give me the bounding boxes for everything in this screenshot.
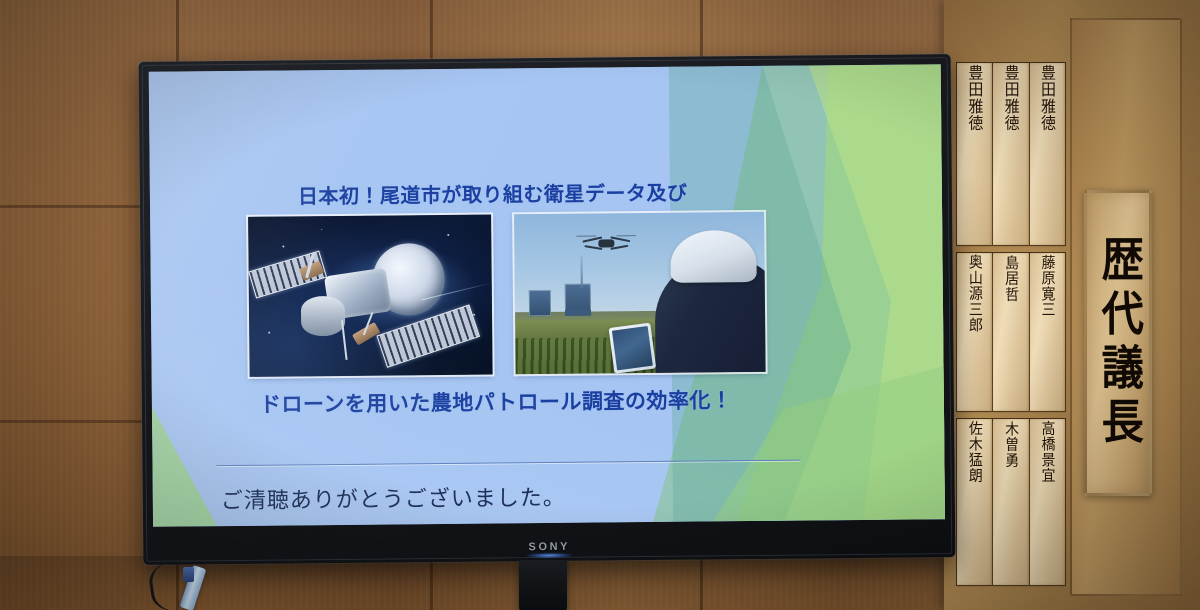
- tablet-device: [609, 323, 657, 374]
- slide-subtitle: ドローンを用いた農地パトロール調査の効率化！: [260, 384, 733, 419]
- solar-panel-right: [376, 304, 480, 367]
- drone-field-photo: [514, 212, 766, 374]
- plaque-name: 島居哲: [1004, 255, 1018, 302]
- tv-screen: 日本初！尾道市が取り組む衛星データ及び: [149, 64, 945, 527]
- plaque-name: 豊田雅徳: [967, 64, 982, 131]
- plaque-name: 豊田雅徳: [1040, 64, 1055, 131]
- star: [269, 332, 271, 334]
- name-plaque: 島居哲: [993, 253, 1028, 411]
- plaque-shelf-top: 豊田雅徳 豊田雅徳 豊田雅徳: [956, 62, 1066, 246]
- satellite-drum: [301, 296, 345, 336]
- plaque-shelf-bottom: 高橋景宜 木曽勇 佐木猛朗: [956, 418, 1066, 586]
- silo-structure: [529, 290, 551, 316]
- plaque-name: 木曽勇: [1004, 421, 1018, 468]
- tower-base: [565, 310, 591, 316]
- plaque-name: 藤原寛三: [1040, 255, 1054, 318]
- tablet-screen: [612, 326, 653, 370]
- plaque-shelf-middle: 藤原寛三 島居哲 奥山源三郎: [956, 252, 1066, 412]
- star: [321, 229, 322, 230]
- photo-scene: 豊田雅徳 豊田雅徳 豊田雅徳 藤原寛三 島居哲 奥山源三郎 高橋景宜 木曽勇 佐…: [0, 0, 1200, 610]
- name-plaque: 高橋景宜: [1030, 419, 1065, 585]
- chairpersons-title-board: 歴代議長: [1084, 190, 1152, 496]
- facet-shape-corner-left: [152, 406, 217, 527]
- cable-clip: [183, 567, 194, 582]
- drone-body: [598, 239, 614, 247]
- tv-stand-neck: [519, 560, 567, 610]
- plaque-name: 高橋景宜: [1040, 421, 1054, 484]
- name-plaque: 豊田雅徳: [993, 63, 1028, 245]
- name-plaque: 奥山源三郎: [957, 253, 992, 411]
- plaque-name: 奥山源三郎: [968, 254, 982, 333]
- strut: [341, 320, 348, 360]
- drone-propeller: [616, 235, 636, 236]
- title-board-text: 歴代議長: [1097, 235, 1139, 451]
- slide-closing-text: ご清聴ありがとうございました。: [221, 480, 566, 515]
- satellite-photo: [248, 215, 493, 377]
- television: 日本初！尾道市が取り組む衛星データ及び: [139, 54, 956, 565]
- name-plaque: 豊田雅徳: [1030, 63, 1065, 245]
- slide-title: 日本初！尾道市が取り組む衛星データ及び: [298, 177, 688, 210]
- antenna-mast: [580, 256, 582, 288]
- star: [448, 234, 450, 236]
- plaque-name: 佐木猛朗: [968, 421, 982, 484]
- name-plaque: 佐木猛朗: [957, 419, 992, 585]
- name-plaque: 木曽勇: [993, 419, 1028, 585]
- name-plaque: 豊田雅徳: [957, 63, 992, 245]
- name-plaque: 藤原寛三: [1030, 253, 1065, 411]
- drone-propeller: [576, 236, 596, 237]
- presentation-slide: 日本初！尾道市が取り組む衛星データ及び: [149, 64, 945, 527]
- star: [282, 245, 284, 247]
- plaque-name: 豊田雅徳: [1003, 64, 1018, 131]
